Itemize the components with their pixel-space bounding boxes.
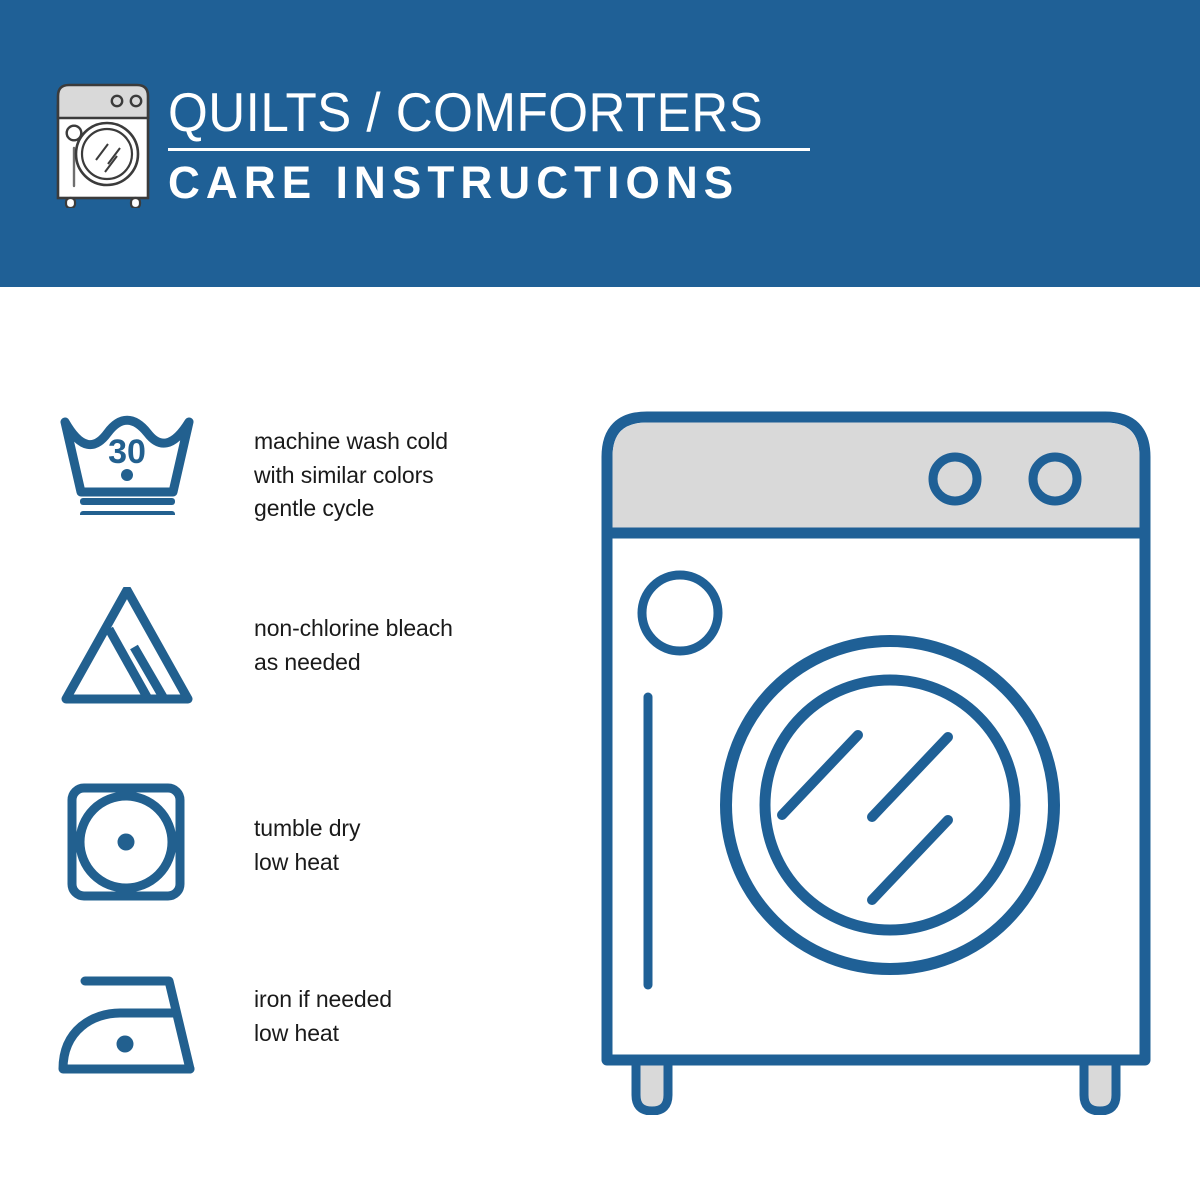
front-load-washing-machine-illustration — [600, 405, 1160, 1115]
care-line: low heat — [254, 846, 360, 880]
care-text-tumble-dry: tumble dry low heat — [254, 812, 360, 879]
care-row-tumble-dry: tumble dry low heat — [0, 789, 560, 986]
care-row-bleach: non-chlorine bleach as needed — [0, 592, 560, 789]
care-line: low heat — [254, 1017, 392, 1051]
care-row-iron: iron if needed low heat — [0, 986, 560, 1183]
header-title-block: QUILTS / COMFORTERS CARE INSTRUCTIONS — [168, 83, 828, 208]
washing-machine-icon — [52, 80, 154, 208]
care-line: tumble dry — [254, 812, 360, 846]
care-line: machine wash cold — [254, 425, 448, 459]
care-symbol-list: 30 machine wash cold with similar colors… — [0, 395, 560, 1183]
care-line: iron if needed — [254, 983, 392, 1017]
care-row-wash: 30 machine wash cold with similar colors… — [0, 395, 560, 592]
title-divider — [168, 148, 810, 151]
care-line: as needed — [254, 646, 453, 680]
control-knob-right — [1033, 457, 1077, 501]
header-banner: QUILTS / COMFORTERS CARE INSTRUCTIONS — [0, 0, 1200, 287]
care-text-wash: machine wash cold with similar colors ge… — [254, 425, 448, 526]
iron-low-heat-icon — [55, 958, 200, 1078]
page-subtitle: CARE INSTRUCTIONS — [168, 158, 815, 208]
care-text-iron: iron if needed low heat — [254, 983, 392, 1050]
care-instructions-infographic: QUILTS / COMFORTERS CARE INSTRUCTIONS 30 — [0, 0, 1200, 1200]
care-line: with similar colors — [254, 459, 448, 493]
care-line: non-chlorine bleach — [254, 612, 453, 646]
machine-wash-cold-gentle-icon: 30 — [55, 395, 200, 515]
wash-temperature-value: 30 — [108, 433, 146, 471]
care-line: gentle cycle — [254, 492, 448, 526]
non-chlorine-bleach-icon — [55, 587, 200, 707]
care-text-bleach: non-chlorine bleach as needed — [254, 612, 453, 679]
page-title: QUILTS / COMFORTERS — [168, 83, 782, 141]
tumble-dry-low-icon — [55, 782, 200, 902]
side-indicator-circle — [642, 575, 718, 651]
control-knob-left — [933, 457, 977, 501]
